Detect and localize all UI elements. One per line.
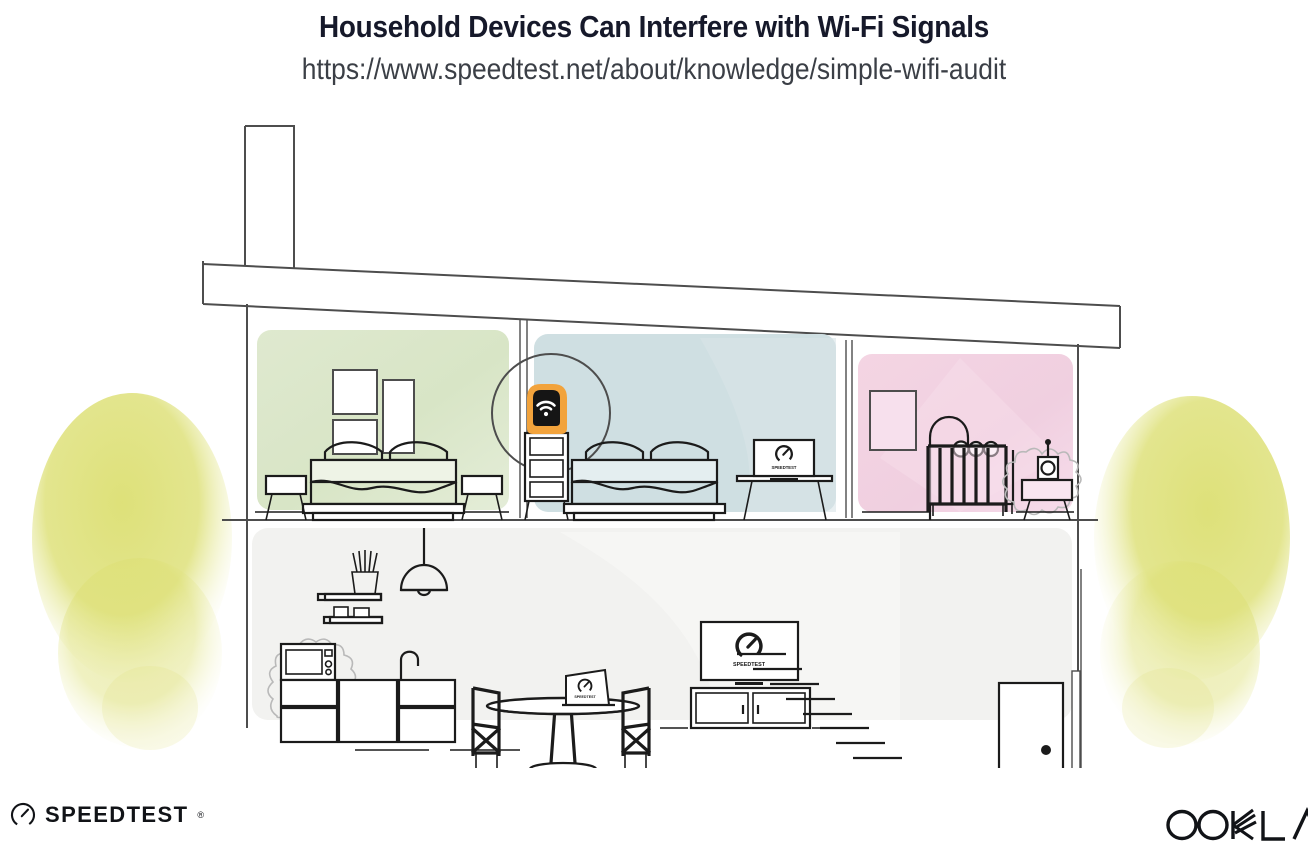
monitor[interactable]: SPEEDTEST (754, 440, 814, 481)
room-living-kitchen: SPEEDTEST SPEEDTEST (252, 528, 1081, 768)
page-title: Household Devices Can Interfere with Wi-… (65, 8, 1242, 47)
header: Household Devices Can Interfere with Wi-… (0, 0, 1308, 88)
wall-panel-right (1072, 569, 1081, 768)
laptop-speedtest-label: SPEEDTEST (574, 695, 596, 699)
door-knob (1041, 745, 1051, 755)
foliage-right (1094, 396, 1290, 748)
speedtest-logo[interactable]: SPEEDTEST ® (10, 802, 204, 828)
entry-door[interactable] (999, 683, 1063, 768)
room-bedroom-green (255, 330, 509, 520)
ookla-logo[interactable] (1160, 804, 1308, 844)
footer: SPEEDTEST ® (0, 790, 1308, 850)
tv-speedtest-label: SPEEDTEST (733, 662, 766, 668)
speedometer-icon (10, 802, 36, 828)
room-nursery-pink (858, 354, 1081, 520)
speedtest-wordmark: SPEEDTEST (45, 802, 188, 828)
foliage-left (32, 393, 232, 750)
room-bedroom-blue: SPEEDTEST (492, 334, 836, 520)
microwave[interactable] (281, 644, 335, 680)
crib (928, 446, 1013, 516)
wifi-router[interactable] (527, 384, 567, 434)
source-url: https://www.speedtest.net/about/knowledg… (78, 51, 1229, 89)
monitor-speedtest-label: SPEEDTEST (772, 465, 797, 470)
dining-table (487, 698, 639, 768)
infographic-page: Household Devices Can Interfere with Wi-… (0, 0, 1308, 861)
house-illustration: .ln { fill:none; stroke:#4d4d4d; stroke-… (0, 108, 1308, 768)
speedtest-trademark: ® (197, 810, 204, 820)
